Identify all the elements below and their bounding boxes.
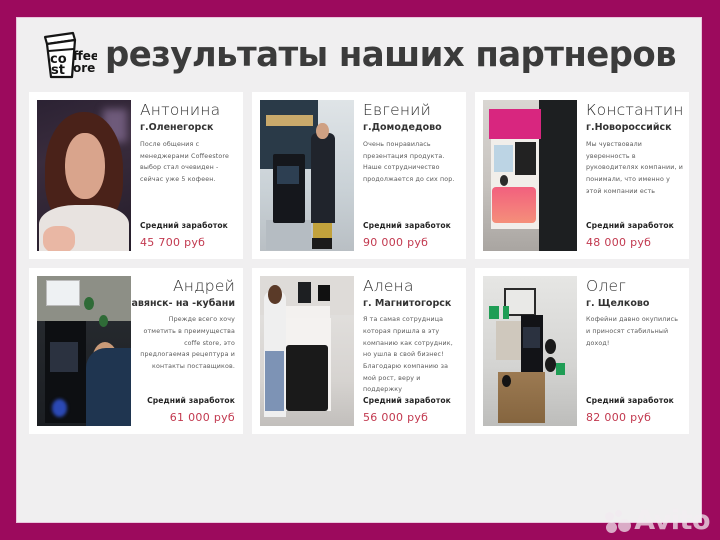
earnings-value: 45 700 руб xyxy=(140,236,237,249)
partner-card: Евгений г.Домодедово Очень понравилась п… xyxy=(252,92,466,259)
partner-info: Антонина г.Оленегорск После общения с ме… xyxy=(132,99,237,252)
partner-quote: Кофейни давно окупились и приносят стаби… xyxy=(586,314,683,349)
earnings-label: Средний заработок xyxy=(363,221,460,230)
earnings-label: Средний заработок xyxy=(586,396,683,405)
partner-name: Константин xyxy=(586,102,683,119)
partner-card: Антонина г.Оленегорск После общения с ме… xyxy=(29,92,243,259)
partner-name: Антонина xyxy=(140,102,237,119)
page-title: результаты наших партнеров xyxy=(105,38,676,73)
earnings-value: 61 000 руб xyxy=(170,411,235,424)
svg-text:ore: ore xyxy=(73,61,95,75)
partner-quote: Очень понравилась презентация продукта. … xyxy=(363,139,460,186)
partner-photo xyxy=(36,99,132,252)
partner-name: Евгений xyxy=(363,102,460,119)
partner-info: Евгений г.Домодедово Очень понравилась п… xyxy=(355,99,460,252)
partner-city: г.Оленегорск xyxy=(140,123,237,134)
partner-quote: Мы чувствовали уверенность в руководител… xyxy=(586,139,683,197)
partner-city: г.Новороссийск xyxy=(586,123,683,134)
partner-photo xyxy=(36,275,132,428)
partner-info: Андрей г. Славянск- на -кубани Прежде вс… xyxy=(132,275,237,428)
partner-city: г. Щелково xyxy=(586,299,683,310)
earnings-label: Средний заработок xyxy=(140,221,237,230)
partner-card: Олег г. Щелково Кофейни давно окупились … xyxy=(475,268,689,435)
partner-photo xyxy=(482,99,578,252)
earnings-label: Средний заработок xyxy=(147,396,235,405)
earnings-value: 82 000 руб xyxy=(586,411,683,424)
partner-city: г. Магнитогорск xyxy=(363,299,460,310)
earnings-value: 90 000 руб xyxy=(363,236,460,249)
svg-text:st: st xyxy=(51,63,65,78)
partner-city: г. Славянск- на -кубани xyxy=(132,299,235,310)
earnings-value: 56 000 руб xyxy=(363,411,460,424)
partner-name: Олег xyxy=(586,278,683,295)
partner-info: Олег г. Щелково Кофейни давно окупились … xyxy=(578,275,683,428)
partner-photo xyxy=(482,275,578,428)
partner-photo xyxy=(259,99,355,252)
partner-card: Константин г.Новороссийск Мы чувствовали… xyxy=(475,92,689,259)
partner-name: Алена xyxy=(363,278,460,295)
partner-photo xyxy=(259,275,355,428)
poster-header: co st ffee ore результаты наших партнеро… xyxy=(17,18,701,92)
partner-city: г.Домодедово xyxy=(363,123,460,134)
partner-quote: После общения с менеджерами Coffeestore … xyxy=(140,139,237,186)
partner-quote: Прежде всего хочу отметить в преимуществ… xyxy=(136,314,235,372)
partner-info: Константин г.Новороссийск Мы чувствовали… xyxy=(578,99,683,252)
coffee-store-logo-icon: co st ffee ore xyxy=(35,29,97,81)
poster-panel: co st ffee ore результаты наших партнеро… xyxy=(17,18,701,522)
partner-name: Андрей xyxy=(173,278,235,295)
partner-card: Андрей г. Славянск- на -кубани Прежде вс… xyxy=(29,268,243,435)
earnings-label: Средний заработок xyxy=(363,396,460,405)
earnings-label: Средний заработок xyxy=(586,221,683,230)
partner-card: Алена г. Магнитогорск Я та самая сотрудн… xyxy=(252,268,466,435)
partner-quote: Я та самая сотрудница которая пришла в э… xyxy=(363,314,460,395)
partner-info: Алена г. Магнитогорск Я та самая сотрудн… xyxy=(355,275,460,428)
partners-grid: Антонина г.Оленегорск После общения с ме… xyxy=(17,92,701,434)
earnings-value: 48 000 руб xyxy=(586,236,683,249)
